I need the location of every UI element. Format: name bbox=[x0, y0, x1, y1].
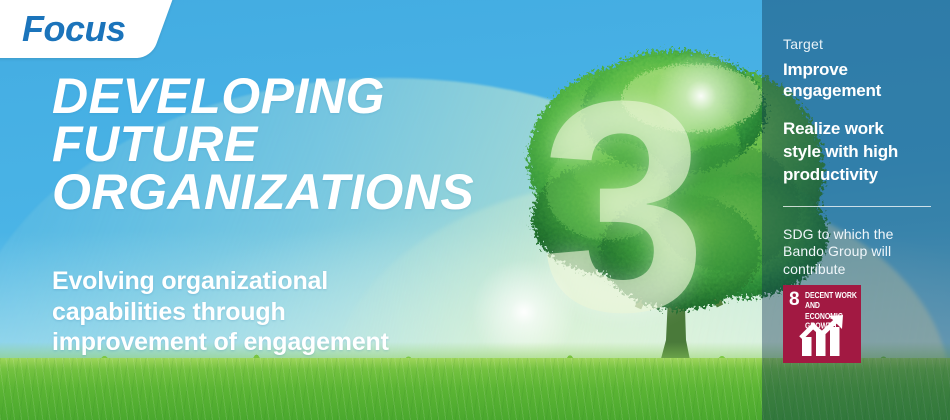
page-title: DEVELOPING FUTURE ORGANIZATIONS bbox=[52, 72, 474, 216]
target-item-2-line-3: productivity bbox=[783, 164, 898, 187]
headline-line-1: DEVELOPING bbox=[52, 72, 474, 120]
target-item-2-line-1: Realize work bbox=[783, 118, 898, 141]
growth-chart-icon bbox=[798, 315, 846, 357]
sdg-note: SDG to which the Bando Group will contri… bbox=[783, 226, 894, 278]
target-item-1-line-1: Improve bbox=[783, 60, 881, 81]
subhead-line-2: capabilities through bbox=[52, 297, 389, 328]
target-panel-content: Target Improve engagement Realize work s… bbox=[783, 0, 943, 420]
target-panel: Target Improve engagement Realize work s… bbox=[762, 0, 950, 420]
sdg-title-line-1: DECENT WORK AND bbox=[805, 292, 861, 312]
headline-line-3: ORGANIZATIONS bbox=[52, 168, 474, 216]
subhead-line-1: Evolving organizational bbox=[52, 266, 389, 297]
focus-badge-label: Focus bbox=[22, 8, 126, 50]
sdg-goal-8-badge[interactable]: 8 DECENT WORK AND ECONOMIC GROWTH bbox=[783, 285, 861, 363]
target-item-1-line-2: engagement bbox=[783, 81, 881, 102]
subhead-line-3: improvement of engagement bbox=[52, 327, 389, 358]
page-subtitle: Evolving organizational capabilities thr… bbox=[52, 266, 389, 358]
headline-line-2: FUTURE bbox=[52, 120, 474, 168]
target-item-work-style-productivity: Realize work style with high productivit… bbox=[783, 118, 898, 187]
sdg-note-line-2: Bando Group will bbox=[783, 243, 894, 260]
target-item-2-line-2: style with high bbox=[783, 141, 898, 164]
focus-banner: 3 Focus DEVELOPING FUTURE ORGANIZATIONS … bbox=[0, 0, 950, 420]
focus-number: 3 bbox=[540, 56, 701, 356]
panel-divider bbox=[783, 206, 931, 207]
target-item-improve-engagement: Improve engagement bbox=[783, 60, 881, 101]
sdg-note-line-3: contribute bbox=[783, 261, 894, 278]
target-label: Target bbox=[783, 36, 823, 52]
sdg-note-line-1: SDG to which the bbox=[783, 226, 894, 243]
sdg-goal-number: 8 bbox=[789, 290, 800, 309]
